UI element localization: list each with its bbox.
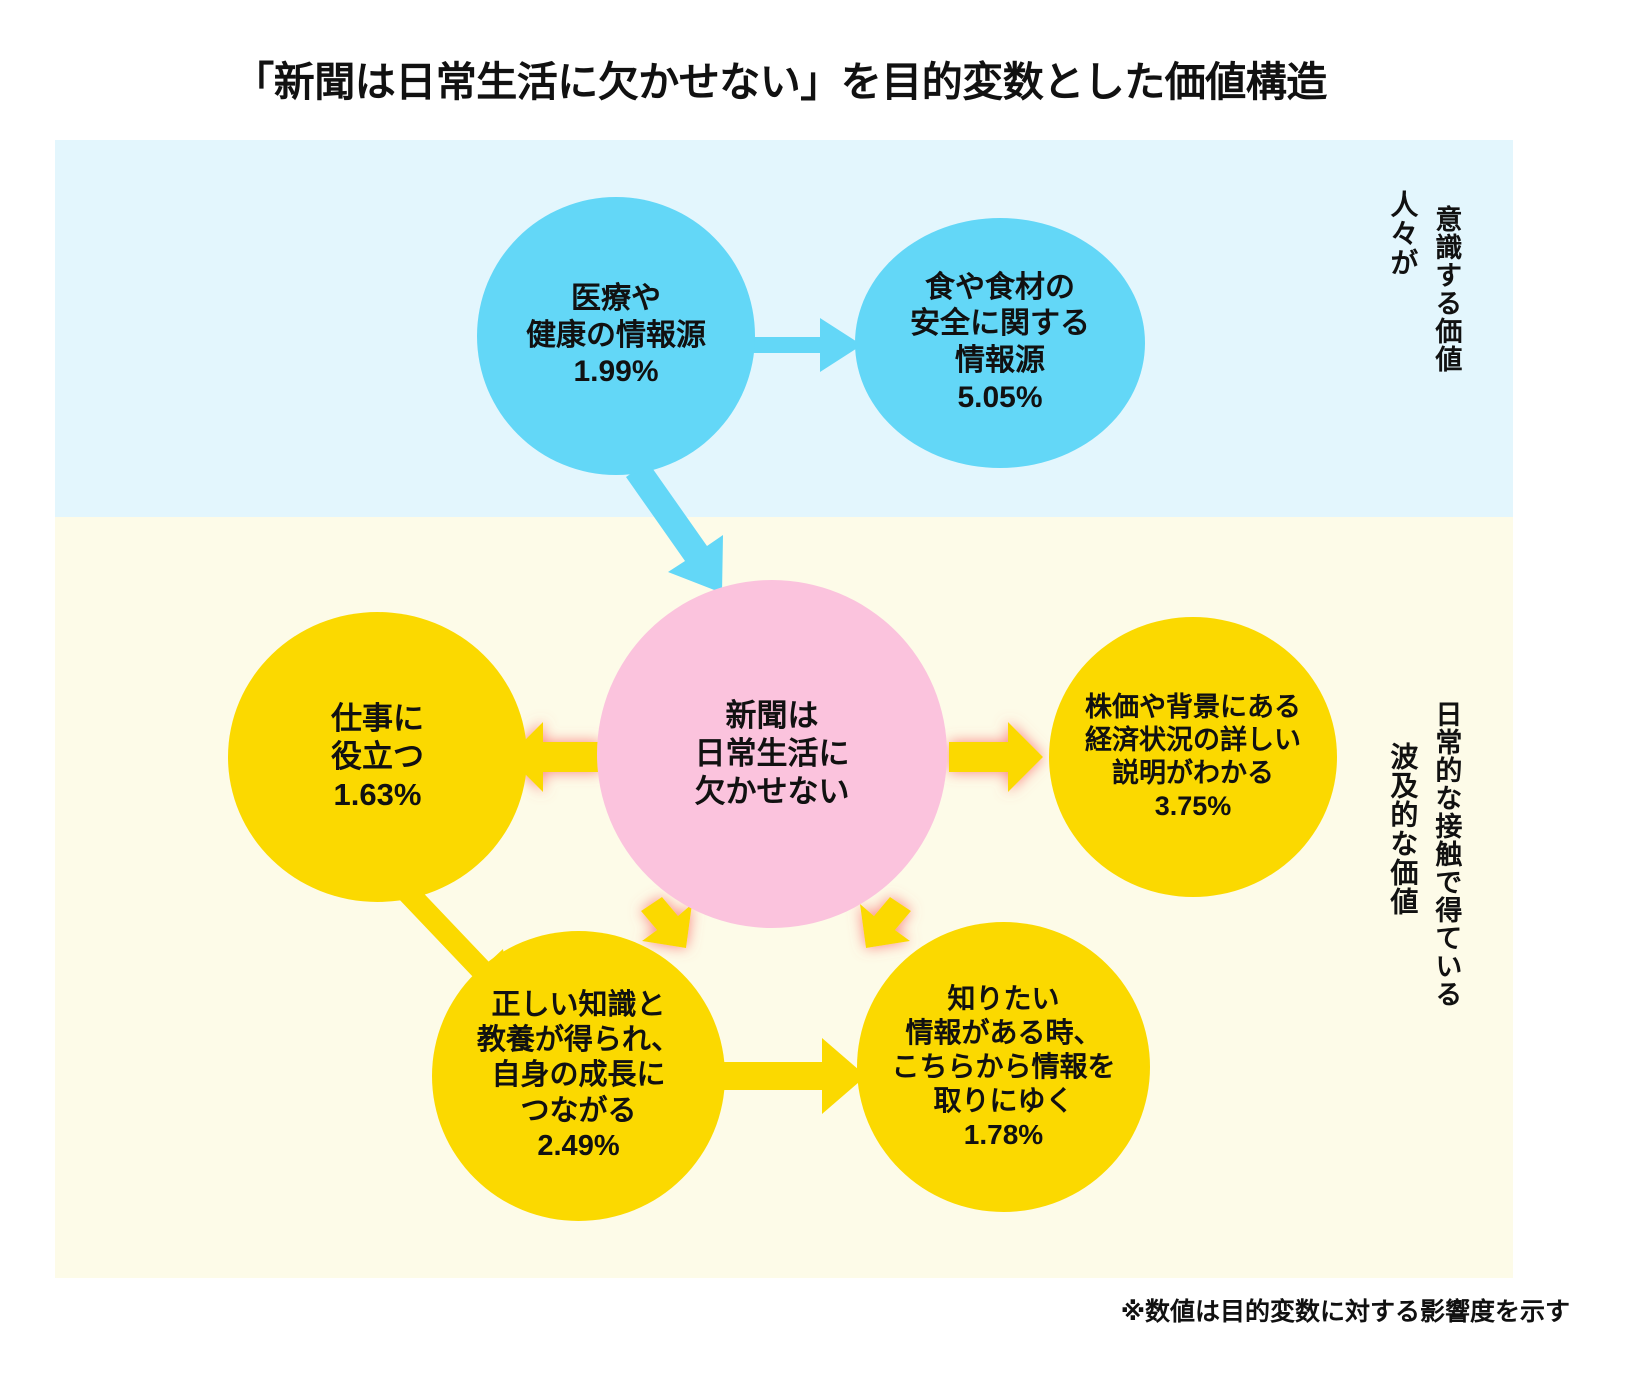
node-target-variable[interactable]: 新聞は 日常生活に 欠かせない bbox=[597, 580, 947, 928]
side-label-top-outer: 人々が bbox=[1388, 190, 1417, 277]
node-knowledge-label: 正しい知識と 教養が得られ、 自身の成長に つながる bbox=[477, 989, 680, 1127]
node-medical-label: 医療や 健康の情報源 bbox=[526, 282, 706, 352]
node-medical-value: 1.99% bbox=[573, 355, 658, 388]
node-center-label: 新聞は 日常生活に 欠かせない bbox=[695, 698, 850, 809]
page-title: 「新聞は日常生活に欠かせない」を目的変数とした価値構造 bbox=[0, 48, 1560, 108]
node-seek-label: 知りたい 情報がある時、 こちらから情報を 取りにゆく bbox=[891, 983, 1115, 1116]
node-knowledge-growth[interactable]: 正しい知識と 教養が得られ、 自身の成長に つながる 2.49% bbox=[432, 931, 725, 1221]
node-seek-value: 1.78% bbox=[964, 1119, 1043, 1150]
node-work-value: 1.63% bbox=[334, 777, 422, 812]
side-label-bottom-outer: 波及的な価値 bbox=[1388, 742, 1417, 916]
node-medical-health[interactable]: 医療や 健康の情報源 1.99% bbox=[477, 197, 755, 475]
node-knowledge-value: 2.49% bbox=[537, 1130, 619, 1162]
footnote: ※数値は目的変数に対する影響度を示す bbox=[1121, 1292, 1570, 1328]
node-stock-value: 3.75% bbox=[1155, 791, 1232, 821]
node-seek-information[interactable]: 知りたい 情報がある時、 こちらから情報を 取りにゆく 1.78% bbox=[857, 922, 1150, 1212]
node-useful-for-work[interactable]: 仕事に 役立つ 1.63% bbox=[228, 612, 527, 902]
node-food-safety[interactable]: 食や食材の 安全に関する 情報源 5.05% bbox=[855, 218, 1145, 468]
node-stock-economy[interactable]: 株価や背景にある 経済状況の詳しい 説明がわかる 3.75% bbox=[1049, 617, 1337, 897]
panel-conscious-value bbox=[55, 140, 1513, 517]
node-work-label: 仕事に 役立つ bbox=[331, 701, 424, 774]
node-food-value: 5.05% bbox=[957, 381, 1042, 414]
node-stock-label: 株価や背景にある 経済状況の詳しい 説明がわかる bbox=[1085, 692, 1301, 788]
side-label-bottom-inner: 日常的な接触で得ている bbox=[1432, 700, 1460, 1008]
side-label-top-inner: 意識する価値 bbox=[1432, 205, 1460, 373]
node-food-label: 食や食材の 安全に関する 情報源 bbox=[910, 271, 1090, 377]
